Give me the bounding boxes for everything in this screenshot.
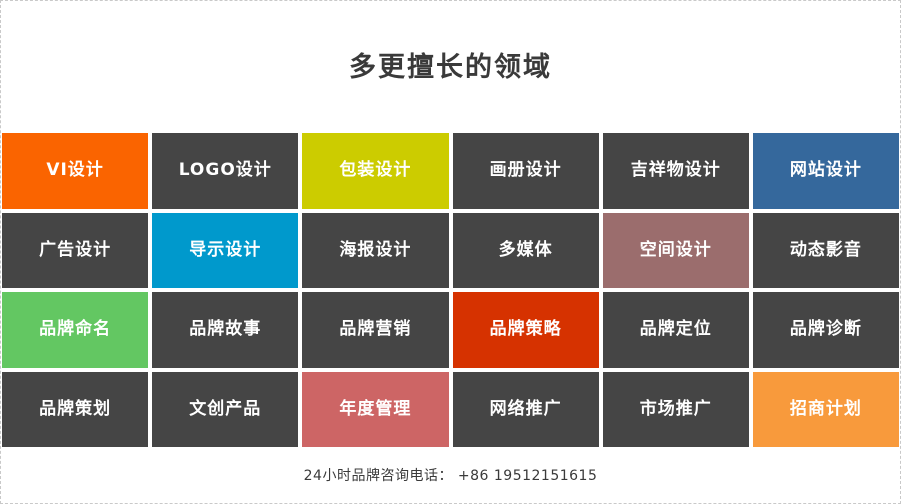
service-cell[interactable]: 品牌营销 xyxy=(302,292,448,368)
service-cell-label: 多媒体 xyxy=(499,242,553,259)
service-cell-label: 品牌定位 xyxy=(640,321,712,338)
service-cell-label: 海报设计 xyxy=(339,242,411,259)
service-cell-label: 画册设计 xyxy=(490,162,562,179)
service-cell[interactable]: 文创产品 xyxy=(152,372,298,448)
service-cell-label: 网络推广 xyxy=(490,401,562,418)
service-cell[interactable]: 招商计划 xyxy=(753,372,899,448)
page-title: 多更擅长的领域 xyxy=(349,54,552,81)
service-cell[interactable]: 动态影音 xyxy=(753,213,899,289)
service-cell[interactable]: 品牌故事 xyxy=(152,292,298,368)
service-cell-label: VI设计 xyxy=(46,162,103,179)
page-root: 多更擅长的领域 VI设计LOGO设计包装设计画册设计吉祥物设计网站设计广告设计导… xyxy=(0,0,901,504)
service-cell-label: 品牌故事 xyxy=(189,321,261,338)
service-cell[interactable]: 品牌策略 xyxy=(453,292,599,368)
service-cell[interactable]: VI设计 xyxy=(2,133,148,209)
service-cell-label: 广告设计 xyxy=(39,242,111,259)
service-cell-label: 品牌营销 xyxy=(339,321,411,338)
service-cell[interactable]: 品牌诊断 xyxy=(753,292,899,368)
service-cell-label: 招商计划 xyxy=(790,401,862,418)
service-grid: VI设计LOGO设计包装设计画册设计吉祥物设计网站设计广告设计导示设计海报设计多… xyxy=(2,133,899,447)
footer-bar: 24小时品牌咨询电话： +86 19512151615 xyxy=(1,447,900,503)
service-cell[interactable]: 包装设计 xyxy=(302,133,448,209)
service-cell-label: 品牌策略 xyxy=(490,321,562,338)
service-cell-label: 包装设计 xyxy=(339,162,411,179)
service-cell-label: 导示设计 xyxy=(189,242,261,259)
service-cell[interactable]: 网站设计 xyxy=(753,133,899,209)
service-cell[interactable]: 广告设计 xyxy=(2,213,148,289)
service-cell-label: 品牌命名 xyxy=(39,321,111,338)
service-cell[interactable]: 品牌策划 xyxy=(2,372,148,448)
service-cell-label: 动态影音 xyxy=(790,242,862,259)
service-cell-label: 空间设计 xyxy=(640,242,712,259)
service-cell-label: 品牌诊断 xyxy=(790,321,862,338)
service-cell-label: 吉祥物设计 xyxy=(631,162,721,179)
service-cell[interactable]: 海报设计 xyxy=(302,213,448,289)
contact-phone-text: 24小时品牌咨询电话： +86 19512151615 xyxy=(304,465,598,485)
service-cell[interactable]: LOGO设计 xyxy=(152,133,298,209)
service-cell[interactable]: 吉祥物设计 xyxy=(603,133,749,209)
service-cell[interactable]: 市场推广 xyxy=(603,372,749,448)
title-bar: 多更擅长的领域 xyxy=(1,1,900,133)
service-cell[interactable]: 导示设计 xyxy=(152,213,298,289)
service-cell[interactable]: 品牌定位 xyxy=(603,292,749,368)
service-cell[interactable]: 空间设计 xyxy=(603,213,749,289)
service-cell-label: 品牌策划 xyxy=(39,401,111,418)
service-cell-label: LOGO设计 xyxy=(179,162,272,179)
service-cell[interactable]: 画册设计 xyxy=(453,133,599,209)
service-cell[interactable]: 品牌命名 xyxy=(2,292,148,368)
service-cell-label: 网站设计 xyxy=(790,162,862,179)
service-cell[interactable]: 网络推广 xyxy=(453,372,599,448)
service-cell-label: 年度管理 xyxy=(339,401,411,418)
service-cell[interactable]: 年度管理 xyxy=(302,372,448,448)
service-cell-label: 市场推广 xyxy=(640,401,712,418)
service-cell-label: 文创产品 xyxy=(189,401,261,418)
service-cell[interactable]: 多媒体 xyxy=(453,213,599,289)
